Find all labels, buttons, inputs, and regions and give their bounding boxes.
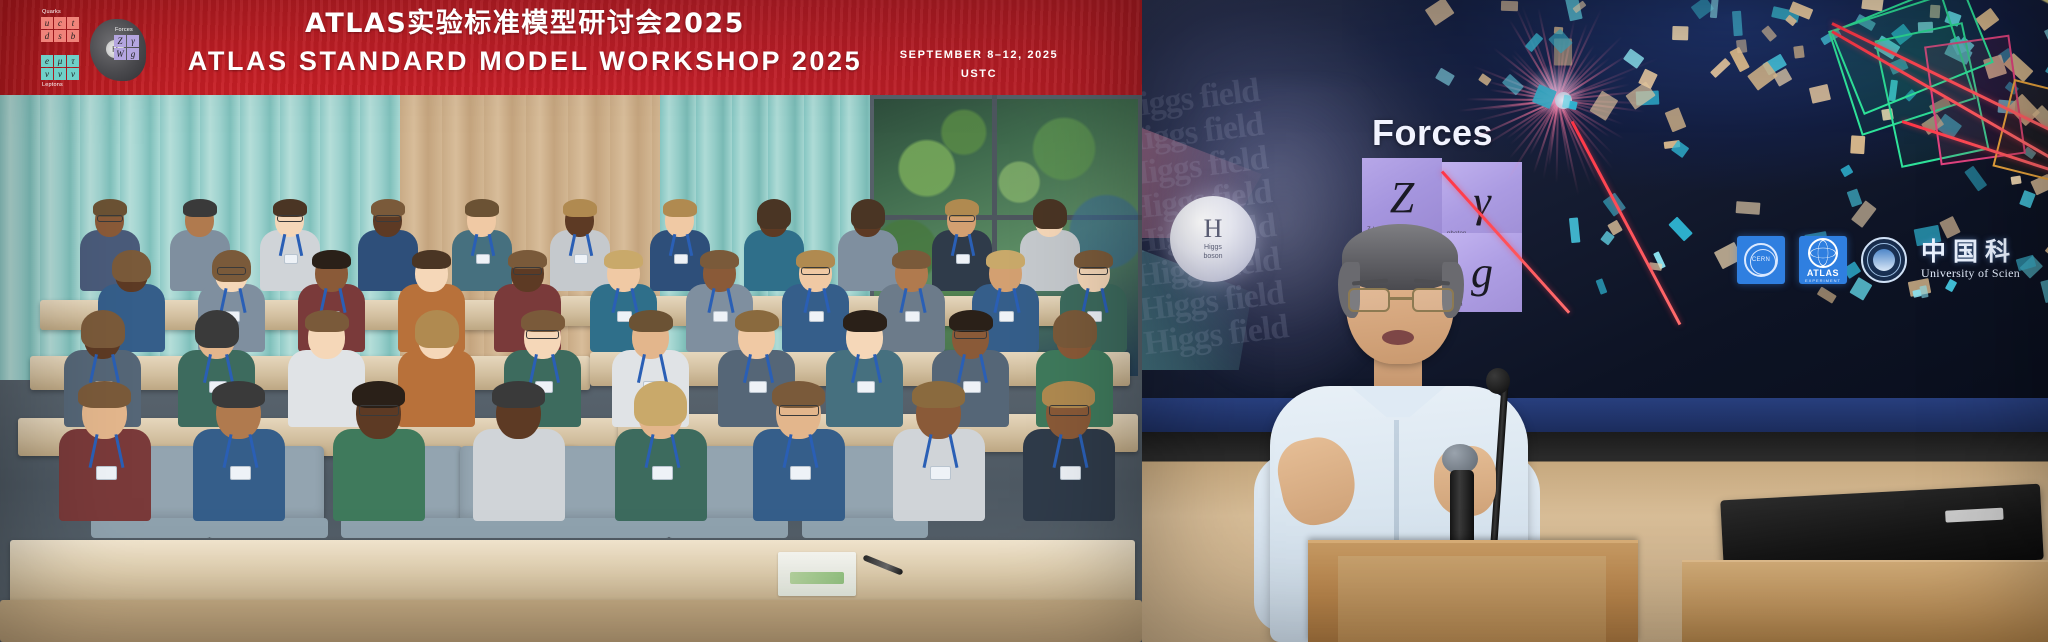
institution-logo-row: CERN ATLAS EXPERIMENT 中国科 University of … (1737, 236, 2020, 284)
participant-glasses (1049, 405, 1089, 416)
participant-badge (574, 254, 588, 263)
participant-glasses (526, 330, 559, 339)
projection-screen: Higgs field Higgs field Higgs field Higg… (1142, 0, 2048, 432)
calorimeter-cell (1736, 39, 1748, 53)
participant (190, 376, 288, 521)
participant-hair (949, 310, 993, 332)
lepton-cell: τ (67, 55, 79, 67)
participant (56, 376, 154, 521)
speaker-mouth (1382, 330, 1414, 345)
participant-glasses (801, 267, 830, 275)
quark-cell: b (67, 30, 79, 42)
lepton-cell: e (41, 55, 53, 67)
atlas-logo: ATLAS EXPERIMENT (1799, 236, 1847, 284)
participant-hair (843, 310, 887, 332)
photo-collage: H Quarks u c t d s b Leptons e μ τ ν ν (0, 0, 2048, 642)
participant-hair (78, 381, 131, 407)
participant-hair (851, 199, 885, 228)
participant-hair (112, 250, 150, 283)
slide-heading-forces: Forces (1372, 112, 1493, 154)
front-desk-lip (0, 600, 1142, 642)
banner-venue: USTC (864, 65, 1094, 84)
participant-badge (476, 254, 490, 263)
force-symbol-z: Z (1390, 176, 1414, 220)
participant-glasses (954, 330, 987, 339)
logo-quarks-caption: Quarks (42, 9, 61, 15)
participant-glasses (359, 405, 399, 416)
participant-hair (305, 310, 349, 332)
participant-hair (465, 199, 499, 216)
participant-hair (604, 250, 642, 269)
participant-hair (1042, 381, 1095, 407)
banner-title-block: ATLAS实验标准模型研讨会2025 ATLAS STANDARD MODEL … (175, 6, 875, 82)
participant-torso (333, 429, 425, 521)
lepton-cell: ν (54, 68, 66, 80)
participant-glasses (97, 215, 123, 222)
banner-title-english: ATLAS STANDARD MODEL WORKSHOP 2025 (175, 42, 875, 81)
banner-dates: SEPTEMBER 8–12, 2025 (864, 46, 1094, 65)
logo-leptons-grid: e μ τ ν ν ν (41, 55, 79, 80)
participant-torso (473, 429, 565, 521)
higgs-label-line2: boson (1203, 253, 1222, 262)
paper-handout-graphic (790, 572, 844, 584)
quark-cell: u (41, 17, 53, 29)
calorimeter-cell (1847, 189, 1862, 207)
participant-hair (892, 250, 930, 269)
participant-badge (96, 466, 117, 481)
logo-forces-grid: Z γ W g (114, 35, 139, 60)
eyeglass-bridge (1390, 297, 1412, 300)
cern-logo-text: CERN (1752, 257, 1770, 263)
participant-hair (212, 381, 265, 407)
force-cell: Z (114, 35, 126, 47)
quark-cell: s (54, 30, 66, 42)
participant-hair (700, 250, 738, 269)
calorimeter-cell (1793, 46, 1805, 59)
speaker-presentation-photo: Higgs field Higgs field Higgs field Higg… (1142, 0, 2048, 642)
logo-leptons-caption: Leptons (42, 82, 63, 88)
eyeglass-lens-left (1348, 288, 1390, 312)
participant-glasses (277, 215, 303, 222)
participant-hair (986, 250, 1024, 269)
participant-hair (1033, 199, 1067, 228)
higgs-boson-sphere: H Higgs boson (1170, 196, 1256, 282)
calorimeter-cell (1596, 279, 1608, 296)
microphone-stand-head (1486, 368, 1510, 394)
force-cell: g (127, 48, 139, 60)
quark-cell: t (67, 17, 79, 29)
atlas-logo-subtext: EXPERIMENT (1805, 278, 1841, 283)
participant-badge (652, 466, 673, 481)
participant-hair (634, 381, 687, 426)
front-desk (10, 540, 1135, 608)
quark-cell: c (54, 17, 66, 29)
calorimeter-cell (1912, 289, 1921, 297)
participant-hair (772, 381, 825, 407)
higgs-label: Higgs boson (1203, 244, 1222, 262)
participant-glasses (779, 405, 819, 416)
participant-glasses (1079, 267, 1108, 275)
participant (330, 376, 428, 521)
ustc-seal-inner (1873, 249, 1895, 271)
participant-glasses (375, 215, 401, 222)
ustc-seal-logo (1861, 237, 1907, 283)
participant (750, 376, 848, 521)
workshop-group-photo: H Quarks u c t d s b Leptons e μ τ ν ν (0, 0, 1142, 642)
workshop-banner: H Quarks u c t d s b Leptons e μ τ ν ν (0, 0, 1142, 95)
force-cell: γ (127, 35, 139, 47)
participant-badge (230, 466, 251, 481)
lepton-cell: ν (41, 68, 53, 80)
logo-quarks-grid: u c t d s b (41, 17, 79, 42)
atlas-globe-icon (1808, 238, 1838, 268)
logo-forces-caption: Forces (115, 27, 133, 33)
calorimeter-cell (1668, 216, 1693, 241)
participant-hair (492, 381, 545, 407)
participant-glasses (513, 267, 542, 275)
calorimeter-cell (2010, 175, 2021, 184)
higgs-label-line1: Higgs (1203, 244, 1222, 253)
participant-badge (930, 466, 951, 481)
participant-badge (956, 254, 970, 263)
participant-hair (412, 250, 450, 269)
banner-title-chinese: ATLAS实验标准模型研讨会2025 (175, 6, 875, 42)
participant-badge (809, 311, 824, 322)
participant-hair (415, 310, 459, 347)
cern-logo: CERN (1737, 236, 1785, 284)
participant (470, 376, 568, 521)
calorimeter-cell (1672, 26, 1688, 41)
cern-ring-icon: CERN (1744, 243, 1778, 277)
ustc-wordmark-english: University of Scien (1921, 266, 2020, 281)
calorimeter-cell (1569, 218, 1580, 244)
participant-hair (183, 199, 217, 216)
calorimeter-cell (1851, 136, 1866, 154)
participant-badge (790, 466, 811, 481)
participant-hair (81, 310, 125, 347)
quark-cell: d (41, 30, 53, 42)
participant-glasses (217, 267, 246, 275)
participant-hair (312, 250, 350, 269)
eyeglass-lens-right (1412, 288, 1454, 312)
eyeglasses-icon (1348, 288, 1454, 314)
participant-badge (1060, 466, 1081, 481)
ustc-wordmark: 中国科 University of Scien (1921, 239, 2020, 281)
participant-glasses (200, 330, 233, 339)
participant-badge (857, 381, 875, 393)
participant-hair (629, 310, 673, 332)
participant-hair (663, 199, 697, 216)
participant-glasses (949, 215, 975, 222)
participant (890, 376, 988, 521)
lepton-cell: μ (54, 55, 66, 67)
calorimeter-cell (2019, 190, 2036, 209)
participant-hair (912, 381, 965, 407)
participant-hair (521, 310, 565, 332)
participant-badge (905, 311, 920, 322)
participant (612, 376, 710, 521)
force-symbol-gluon: g (1471, 251, 1493, 295)
calorimeter-cell (1501, 1, 1518, 11)
podium-front-face (1338, 556, 1606, 642)
lepton-cell: ν (67, 68, 79, 80)
side-table (1682, 560, 2048, 642)
participant-hair (1053, 310, 1097, 347)
participant-hair (563, 199, 597, 216)
ustc-wordmark-chinese: 中国科 (1921, 239, 2020, 265)
banner-meta-block: SEPTEMBER 8–12, 2025 USTC (864, 46, 1094, 83)
calorimeter-cell (2040, 277, 2048, 303)
higgs-symbol: H (1204, 216, 1223, 242)
atlas-logo-text: ATLAS (1807, 269, 1839, 278)
participant (1020, 376, 1118, 521)
participant-hair (195, 310, 239, 347)
calorimeter-cell (1817, 286, 1837, 303)
force-cell: W (114, 48, 126, 60)
participant-hair (735, 310, 779, 332)
force-cube-photon: γ photon (1442, 162, 1522, 241)
calorimeter-cell (1735, 201, 1760, 215)
participant-hair (352, 381, 405, 407)
participant-hair (757, 199, 791, 228)
standard-model-particle-logo: H Quarks u c t d s b Leptons e μ τ ν ν (36, 3, 146, 93)
